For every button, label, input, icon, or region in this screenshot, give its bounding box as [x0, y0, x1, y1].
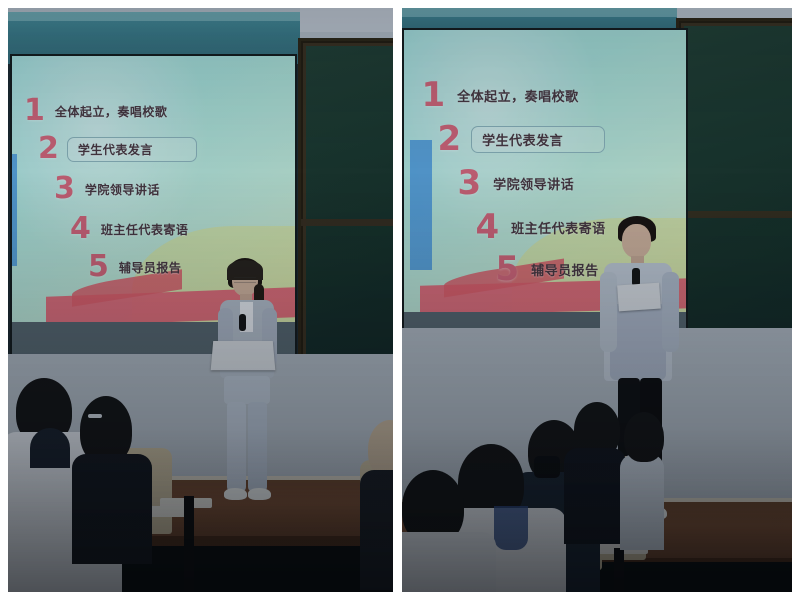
jacket-shading [610, 304, 666, 380]
agenda-text: 辅导员报告 [531, 260, 599, 279]
audience-collar [30, 428, 70, 468]
agenda-number: 3 [458, 166, 482, 200]
audience-body [620, 454, 664, 550]
desk-leg [614, 548, 624, 592]
agenda-item-3: 3 学院领导讲话 [54, 174, 160, 204]
valance-lip [402, 8, 677, 17]
agenda-item-1: 1 全体起立，奏唱校歌 [422, 78, 579, 112]
left-photo: 1 全体起立，奏唱校歌 2 学生代表发言 3 学院领导讲话 4 [8, 8, 393, 592]
speaker-left [206, 258, 286, 513]
agenda-number: 4 [476, 210, 500, 244]
arm-right [662, 272, 679, 352]
agenda-number: 2 [438, 122, 462, 156]
agenda-text-boxed: 学生代表发言 [471, 126, 605, 153]
audience-body [72, 454, 152, 564]
leg-left [227, 402, 246, 492]
agenda-text: 全体起立，奏唱校歌 [55, 103, 168, 120]
agenda-number: 5 [88, 252, 109, 282]
chalkboard-surface [306, 46, 393, 376]
jacket-hem [224, 376, 270, 404]
shoe-left [224, 488, 247, 500]
agenda-item-4: 4 班主任代表寄语 [476, 210, 606, 244]
agenda-text: 班主任代表寄语 [101, 221, 189, 238]
lecture-room-right: 1 全体起立，奏唱校歌 2 学生代表发言 3 学院领导讲话 4 [402, 8, 793, 592]
face [622, 224, 651, 258]
microphone [239, 314, 246, 331]
photo-collage: 1 全体起立，奏唱校歌 2 学生代表发言 3 学院领导讲话 4 [0, 0, 800, 600]
audience-head [624, 412, 664, 462]
lecture-room-left: 1 全体起立，奏唱校歌 2 学生代表发言 3 学院领导讲话 4 [8, 8, 393, 592]
agenda-number: 1 [422, 78, 446, 112]
agenda-item-3: 3 学院领导讲话 [458, 166, 575, 200]
agenda-text: 学院领导讲话 [493, 174, 574, 193]
agenda-text: 辅导员报告 [119, 259, 182, 276]
agenda-item-2: 2 学生代表发言 [438, 122, 606, 156]
agenda-number: 3 [54, 174, 75, 204]
audience-collar [494, 506, 528, 550]
raised-hand [534, 456, 560, 478]
hair-clip [88, 414, 102, 418]
agenda-text-boxed: 学生代表发言 [67, 137, 197, 162]
agenda-item-2: 2 学生代表发言 [38, 134, 197, 164]
audience-body [564, 448, 626, 544]
agenda-number: 5 [496, 252, 520, 286]
chalkboard-divider [679, 211, 793, 218]
ceiling-band [300, 8, 393, 32]
agenda-number: 1 [24, 96, 45, 126]
glasses [234, 277, 256, 283]
agenda-item-4: 4 班主任代表寄语 [70, 214, 188, 244]
leg-right [248, 402, 267, 492]
arm-left [600, 272, 617, 352]
agenda-text: 学院领导讲话 [85, 181, 160, 198]
agenda-number: 2 [38, 134, 59, 164]
script-paper [211, 341, 276, 370]
agenda-text: 全体起立，奏唱校歌 [457, 86, 579, 105]
right-photo: 1 全体起立，奏唱校歌 2 学生代表发言 3 学院领导讲话 4 [402, 8, 793, 592]
shoe-right [248, 488, 271, 500]
agenda-number: 4 [70, 214, 91, 244]
audience-body [360, 470, 393, 590]
chalkboard-left [298, 38, 393, 384]
valance-lip [8, 12, 300, 21]
agenda-item-5: 5 辅导员报告 [88, 252, 181, 282]
agenda-text: 班主任代表寄语 [511, 218, 606, 237]
audience-body [402, 532, 496, 592]
script-paper [617, 283, 661, 312]
chalkboard-divider [301, 219, 393, 226]
agenda-item-1: 1 全体起立，奏唱校歌 [24, 96, 167, 126]
desk-leg [184, 496, 194, 592]
agenda-item-5: 5 辅导员报告 [496, 252, 599, 286]
